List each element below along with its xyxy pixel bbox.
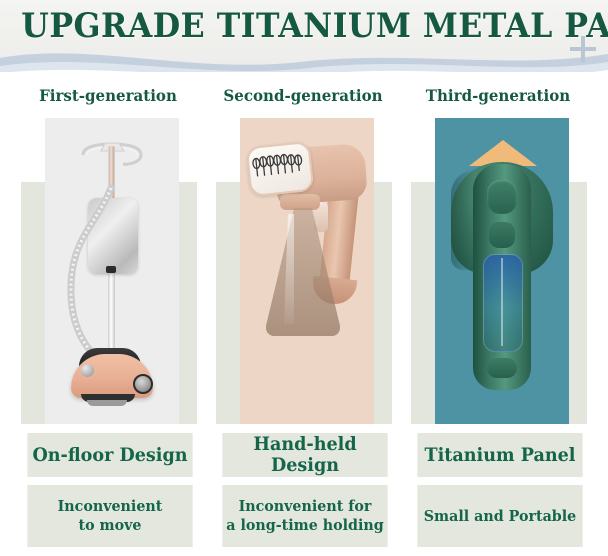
design-label-text: Hand-held Design xyxy=(222,434,387,476)
drawback-line-1: Inconvenient for xyxy=(226,497,383,516)
product-photo-third-generation xyxy=(435,118,569,424)
water-tank xyxy=(483,254,523,352)
steam-button xyxy=(489,222,515,248)
column-heading-first-generation: First-generation xyxy=(16,86,200,105)
plus-icon xyxy=(570,36,596,62)
stand-garment-steamer-icon xyxy=(45,118,179,424)
steam-hose-icon xyxy=(57,184,127,374)
drawback-line-1: Inconvenient xyxy=(58,497,163,516)
drawback-text: Inconvenient for a long-time holding xyxy=(226,497,383,535)
handheld-rose-gold-steamer-icon xyxy=(240,118,374,424)
steamer-shell-shadow xyxy=(451,170,475,270)
infographic-page: UPGRADE TITANIUM METAL PANEL First-gener… xyxy=(0,0,608,556)
wave-decoration xyxy=(0,40,608,72)
drawback-box-second-generation: Inconvenient for a long-time holding xyxy=(222,485,387,547)
comparison-column-second-generation: Second-generation xyxy=(208,72,398,556)
water-tank-highlight xyxy=(501,258,503,346)
header-band: UPGRADE TITANIUM METAL PANEL xyxy=(0,0,608,72)
base-button xyxy=(487,358,517,378)
drawback-line-2: to move xyxy=(58,516,163,535)
compact-green-titanium-steamer-icon xyxy=(435,118,569,424)
product-photo-second-generation xyxy=(240,118,374,424)
drawback-text: Inconvenient to move xyxy=(58,497,163,535)
benefit-box-third-generation: Small and Portable xyxy=(417,485,582,547)
design-label-text: Titanium Panel xyxy=(425,445,576,466)
benefit-text: Small and Portable xyxy=(424,507,577,526)
drawback-box-first-generation: Inconvenient to move xyxy=(27,485,192,547)
product-photo-first-generation xyxy=(45,118,179,424)
benefit-line-1: Small and Portable xyxy=(424,507,577,526)
steam-soleplate xyxy=(246,141,315,197)
steam-holes-icon xyxy=(248,143,308,191)
column-heading-second-generation: Second-generation xyxy=(211,86,395,105)
steamer-bottom-plate xyxy=(87,400,127,406)
drawback-line-2: a long-time holding xyxy=(226,516,383,535)
design-label-box-first-generation: On-floor Design xyxy=(27,433,192,477)
steamer-neck xyxy=(280,194,320,210)
power-button xyxy=(487,180,517,214)
comparison-columns: First-generation xyxy=(0,72,608,556)
plus-icon-vertical-bar xyxy=(581,36,585,62)
column-heading-third-generation: Third-generation xyxy=(406,86,590,105)
comparison-column-third-generation: Third-generation Titanium Panel xyxy=(403,72,593,556)
design-label-text: On-floor Design xyxy=(32,445,187,466)
design-label-box-third-generation: Titanium Panel xyxy=(417,433,582,477)
wave-icon xyxy=(0,40,608,72)
comparison-column-first-generation: First-generation xyxy=(13,72,203,556)
design-label-box-second-generation: Hand-held Design xyxy=(222,433,387,477)
steamer-dial xyxy=(81,364,94,377)
steamer-wheel xyxy=(133,374,153,394)
